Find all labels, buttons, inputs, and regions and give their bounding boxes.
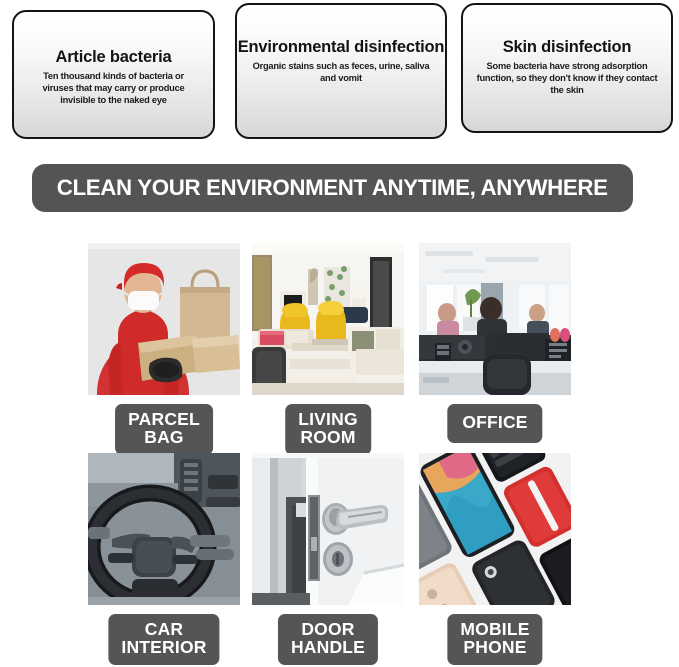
info-card-description: Some bacteria have strong adsorption fun… xyxy=(466,61,668,96)
use-case-tile-parcel-bag: PARCEL BAG xyxy=(88,243,240,395)
headline-banner-text: CLEAN YOUR ENVIRONMENT ANYTIME, ANYWHERE xyxy=(57,175,608,201)
info-card-description: Ten thousand kinds of bacteria or viruse… xyxy=(17,71,210,106)
use-case-tile-label: CAR INTERIOR xyxy=(108,614,219,665)
info-card-title: Environmental disinfection xyxy=(238,38,445,56)
use-case-tile-office: OFFICE xyxy=(419,243,571,395)
door-handle-photo xyxy=(252,453,404,605)
use-case-tile-mobile-phone: MOBILE PHONE xyxy=(419,453,571,605)
use-case-grid: PARCEL BAG xyxy=(0,228,679,667)
mobile-phone-photo xyxy=(419,453,571,605)
car-interior-photo xyxy=(88,453,240,605)
info-card-description: Organic stains such as feces, urine, sal… xyxy=(240,61,442,84)
use-case-tile-label: PARCEL BAG xyxy=(115,404,213,455)
info-card-environmental-disinfection: Environmental disinfection Organic stain… xyxy=(235,3,447,139)
info-card-article-bacteria: Article bacteria Ten thousand kinds of b… xyxy=(12,10,215,139)
info-cards-row: Article bacteria Ten thousand kinds of b… xyxy=(0,0,679,145)
use-case-tile-label: OFFICE xyxy=(447,404,542,443)
use-case-tile-living-room: LIVING ROOM xyxy=(252,243,404,395)
info-card-title: Skin disinfection xyxy=(503,38,632,56)
use-case-tile-label: LIVING ROOM xyxy=(285,404,371,455)
info-card-title: Article bacteria xyxy=(55,48,171,66)
use-case-tile-label: MOBILE PHONE xyxy=(447,614,542,665)
use-case-tile-car-interior: CAR INTERIOR xyxy=(88,453,240,605)
office-photo xyxy=(419,243,571,395)
info-card-skin-disinfection: Skin disinfection Some bacteria have str… xyxy=(461,3,673,133)
use-case-tile-label: DOOR HANDLE xyxy=(278,614,378,665)
parcel-bag-photo xyxy=(88,243,240,395)
use-case-tile-door-handle: DOOR HANDLE xyxy=(252,453,404,605)
headline-banner: CLEAN YOUR ENVIRONMENT ANYTIME, ANYWHERE xyxy=(32,164,633,212)
living-room-photo xyxy=(252,243,404,395)
